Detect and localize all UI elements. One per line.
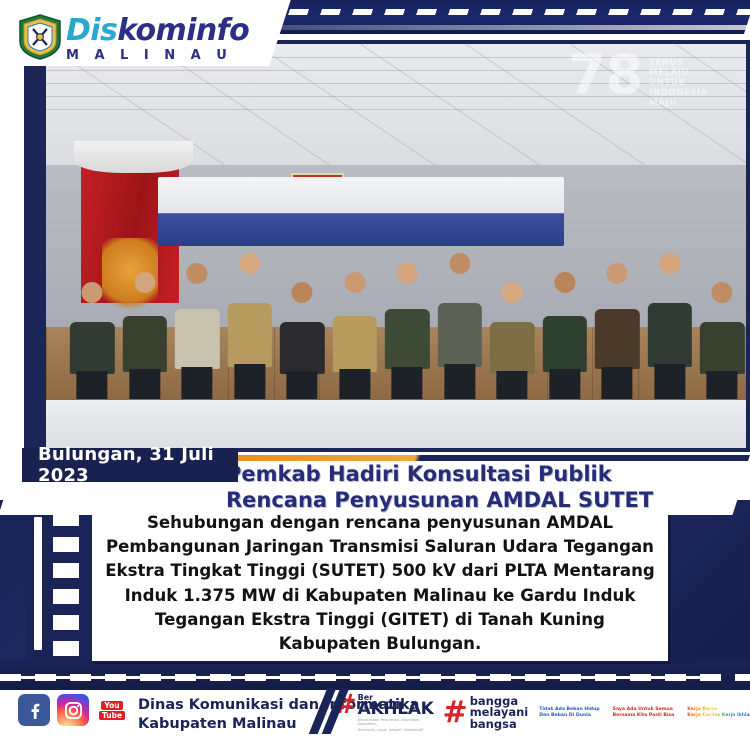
filmstrip-hole [51,587,81,606]
facebook-icon[interactable] [18,694,50,726]
photo-person [120,272,170,399]
berakhlak-logo: # Ber AKHLAK Berorientasi Pelayanan, Aku… [334,694,434,732]
photo-person [172,263,222,400]
photo-person-head [397,263,418,284]
photo-person-head [134,272,155,293]
photo-person-head [344,272,365,293]
photo-ceiling-line [46,109,746,110]
photo-front-floor [46,400,746,448]
footer-campaign-badges: # Ber AKHLAK Berorientasi Pelayanan, Aku… [334,694,750,732]
photo-person-legs [392,367,423,400]
filmstrip-decoration [26,506,92,661]
photo-people-row [46,210,746,400]
brand-name-part2: kominfo [117,13,249,48]
event-photo: 78 TERUS MELAJU UNTUK INDONESIA MAJU [46,44,746,448]
brand-subtitle: M A L I N A U [66,49,249,62]
photo-person [330,272,380,399]
photo-curtain-drape [74,141,193,173]
headline-line-2: Rencana Penyusunan AMDAL SUTET [226,488,653,514]
photo-person-legs [129,369,160,400]
photo-person [540,272,590,399]
mini-badge-2-line-2: Bersama Kita Pasti Bisa [613,713,675,719]
photo-person-head [554,272,575,293]
berakhlak-fine-1: Berorientasi Pelayanan, Akuntabel, Kompe… [358,718,434,727]
photo-person-body [648,303,692,367]
date-badge: Bulungan, 31 Juli 2023 [22,448,238,482]
watermark-line-1: MELAJU [649,68,708,78]
watermark-line-3: INDONESIA [649,88,708,98]
photo-person-head [239,253,260,274]
malinau-regency-crest-icon [18,14,62,60]
photo-person [382,263,432,400]
filmstrip-holes [51,509,81,658]
filmstrip-hole [51,561,81,580]
photo-person-legs [234,364,265,399]
bangga-text: bangga melayani bangsa [470,696,529,731]
photo-person-body [543,316,587,372]
photo-person-body [333,316,377,372]
photo-person-legs [549,369,580,400]
photo-person-head [659,253,680,274]
filmstrip-hole [51,535,81,554]
photo-person-legs [497,371,528,399]
mini-badge-2: Saya Ada Untuk Semua Bersama Kita Pasti … [611,706,677,720]
photo-person [277,282,327,400]
brand-name-part1: Dis [66,13,117,48]
photo-person-legs [182,367,213,400]
photo-person-legs [654,364,685,399]
watermark-number: 78 [568,52,643,98]
brand-name: Diskominfo [66,16,249,46]
date-badge-text: Bulungan, 31 Juli 2023 [22,444,238,486]
watermark-line-0: TERUS [649,58,708,68]
photo-person-body [228,303,272,367]
top-road-dashes [224,9,750,15]
top-road-glow [230,25,750,30]
photo-person-legs [707,371,738,399]
photo-person [487,282,537,400]
mini-badge-3: Kerja Keras Kerja Cerdas Kerja Ikhlas [685,706,750,720]
watermark-line-2: UNTUK [649,78,708,88]
poster-root: 78 TERUS MELAJU UNTUK INDONESIA MAJU Dis… [0,0,750,750]
photo-person-body [123,316,167,372]
photo-person [645,253,695,399]
youtube-label-top: You [101,701,122,710]
photo-person-head [82,282,103,303]
photo-person [592,263,642,400]
photo-person-head [502,282,523,303]
body-text-panel: Sehubungan dengan rencana penyusunan AMD… [92,506,668,661]
photo-person-head [292,282,313,303]
youtube-label-bottom: Tube [99,711,125,720]
photo-person [225,253,275,399]
photo-person-legs [602,367,633,400]
headline-line-1: Pemkab Hadiri Konsultasi Publik [226,462,612,488]
photo-person-head [449,253,470,274]
berakhlak-main: AKHLAK [358,702,434,717]
instagram-icon[interactable] [57,694,89,726]
footer: You Tube Dinas Komunikasi dan Informatik… [0,690,750,750]
headline-text: Pemkab Hadiri Konsultasi Publik Rencana … [226,461,646,515]
body-text: Sehubungan dengan rencana penyusunan AMD… [92,511,668,655]
footer-white-line [12,676,712,679]
youtube-icon[interactable]: You Tube [96,694,128,726]
photo-person-legs [287,371,318,399]
youtube-glyph: You Tube [99,697,125,723]
mini-badge-3-line-2: Kerja Cerdas Kerja Ikhlas [687,713,750,719]
photo-person-body [385,309,429,369]
photo-person [435,253,485,399]
photo-person [697,282,746,400]
filmstrip-bar [34,517,42,650]
social-icons: You Tube [18,694,128,726]
anniversary-watermark: 78 TERUS MELAJU UNTUK INDONESIA MAJU [568,52,708,108]
photo-person-head [187,263,208,284]
photo-person-body [70,322,114,374]
photo-person-head [607,263,628,284]
photo-person-legs [77,371,108,399]
photo-person [67,282,117,400]
bangga-melayani-bangsa-logo: # bangga melayani bangsa [443,696,529,731]
photo-person-body [280,322,324,374]
watermark-tagline: TERUS MELAJU UNTUK INDONESIA MAJU [649,58,708,108]
photo-person-body [438,303,482,367]
photo-person-body [595,309,639,369]
bangga-hash: # [443,701,468,725]
filmstrip-hole [51,639,81,658]
filmstrip-hole [51,613,81,632]
photo-person-body [700,322,744,374]
mini-badge-1: Tidak Ada Beban Hidup Dan Beban Di Dunia [537,706,601,720]
photo-person-body [490,322,534,374]
watermark-line-4: MAJU [649,98,708,108]
photo-person-body [175,309,219,369]
brand-wordmark: Diskominfo M A L I N A U [66,16,249,62]
berakhlak-fine-2: Harmonis, Loyal, Adaptif, Kolaboratif [358,728,434,732]
mini-badge-1-line-2: Dan Beban Di Dunia [539,713,599,719]
bangga-line-3: bangsa [470,719,529,731]
photo-person-legs [444,364,475,399]
photo-person-legs [339,369,370,400]
berakhlak-text: Ber AKHLAK Berorientasi Pelayanan, Akunt… [358,694,434,732]
photo-person-head [712,282,733,303]
